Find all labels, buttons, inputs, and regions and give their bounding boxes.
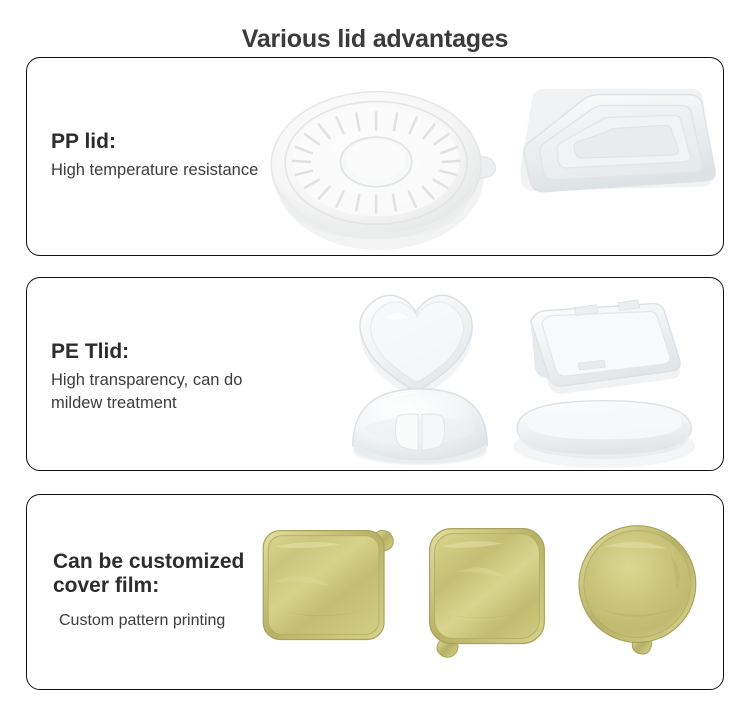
- page-title: Various lid advantages: [0, 25, 750, 54]
- panel-pe-lid: PE Tlid: High transparency, can do milde…: [26, 277, 724, 471]
- panel-pp-lid-product-images: [253, 58, 723, 255]
- panel-pp-lid-description: High temperature resistance: [51, 159, 258, 183]
- round-gold-foil-lid: [579, 526, 696, 654]
- rectangular-pp-lid: [520, 89, 715, 192]
- oval-pe-lid: [513, 401, 695, 468]
- dome-pe-lid: [353, 389, 488, 465]
- square-pe-lid: [531, 300, 680, 394]
- panel-pe-lid-text-block: PE Tlid: High transparency, can do milde…: [51, 340, 242, 416]
- panel-pp-lid-text-block: PP lid: High temperature resistance: [51, 130, 258, 182]
- panel-pp-lid-heading: PP lid:: [51, 130, 258, 154]
- panel-cover-film-heading: Can be customized cover film:: [53, 550, 244, 597]
- panel-pe-lid-heading: PE Tlid:: [51, 340, 242, 364]
- panel-pe-lid-product-images: [323, 278, 723, 470]
- square-gold-foil-lid: [430, 529, 545, 658]
- heart-shaped-pe-lid: [360, 295, 472, 400]
- panel-cover-film-product-images: [243, 495, 723, 689]
- rectangular-gold-foil-lid: [263, 531, 393, 640]
- round-ribbed-pp-lid: [271, 92, 495, 250]
- panel-pe-lid-description: High transparency, can do mildew treatme…: [51, 369, 242, 417]
- panel-cover-film: Can be customized cover film: Custom pat…: [26, 494, 724, 690]
- panel-cover-film-description: Custom pattern printing: [53, 609, 244, 632]
- panel-cover-film-text-block: Can be customized cover film: Custom pat…: [53, 550, 244, 632]
- panel-pp-lid: PP lid: High temperature resistance: [26, 57, 724, 256]
